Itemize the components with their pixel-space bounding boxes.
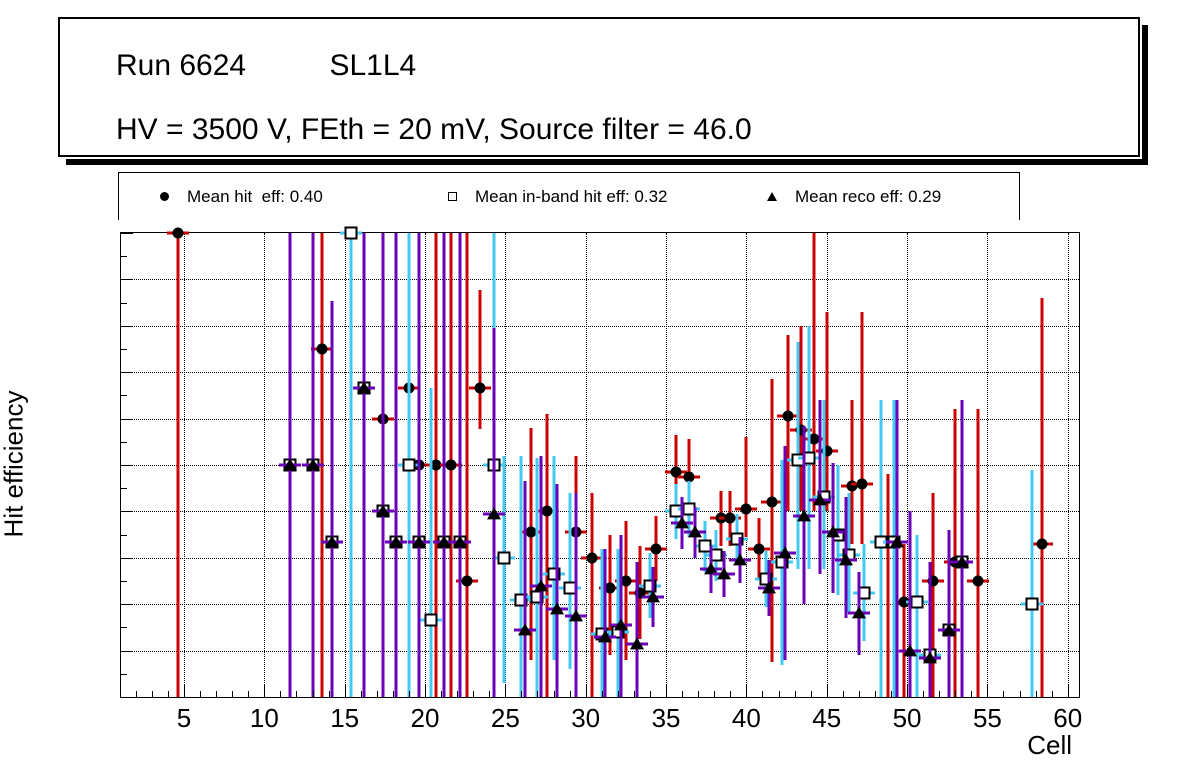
y-tick [120,233,133,234]
error-bar-vertical [575,493,578,697]
x-tick [907,685,908,698]
data-point-triangle [534,579,548,591]
data-point-triangle [813,493,827,505]
y-tick [120,511,133,512]
data-point-circle [783,411,794,422]
x-tick-minor [698,691,699,698]
y-tick-minor [120,349,127,350]
error-bar-vertical [1031,470,1034,697]
x-tick-minor [409,691,410,698]
y-tick [120,279,133,280]
error-bar-vertical [502,456,505,683]
x-tick-label: 35 [652,703,681,734]
title-settings-line: HV = 3500 V, FEth = 20 mV, Source filter… [116,113,752,147]
y-tick [120,558,133,559]
x-tick-minor [891,691,892,698]
filled-triangle-glyph [767,192,777,201]
x-tick [666,685,667,698]
x-tick-minor [618,691,619,698]
y-tick-minor [120,488,127,489]
error-bar-vertical [954,409,957,697]
error-bar-vertical [886,474,889,697]
error-bar-vertical [808,326,811,570]
x-tick-minor [521,691,522,698]
x-tick-minor [843,691,844,698]
error-bar-vertical [931,493,934,697]
plot-frame: 00.10.20.30.40.50.60.70.80.9151015202530… [120,232,1080,698]
legend-box: Mean hit eff: 0.40Mean in-band hit eff: … [118,172,1020,220]
error-bar-vertical [620,535,623,697]
y-tick [120,697,133,698]
x-tick-label: 55 [973,703,1002,734]
data-point-triangle [630,637,644,649]
error-bar-vertical [812,233,815,511]
data-point-triangle [518,623,532,635]
x-tick [746,685,747,698]
x-tick-minor [200,691,201,698]
x-tick-minor [955,691,956,698]
x-tick-minor [377,691,378,698]
data-point-circle [526,527,537,538]
x-tick-label: 45 [812,703,841,734]
data-point-triangle [903,644,917,656]
x-tick-label: 15 [330,703,359,734]
data-point-circle [651,543,662,554]
y-tick-minor [120,256,127,257]
x-tick [425,685,426,698]
x-tick [505,685,506,698]
y-tick-minor [120,535,127,536]
data-point-circle [445,460,456,471]
data-point-triangle [646,591,660,603]
filled-circle-glyph [160,192,169,201]
error-bar-vertical [822,400,825,569]
x-tick-label: 50 [893,703,922,734]
error-bar-vertical [745,437,748,537]
x-tick [264,685,265,698]
error-bar-vertical [555,484,558,697]
data-point-circle [725,513,736,524]
x-tick-label: 20 [411,703,440,734]
open-square-glyph [448,192,457,201]
y-tick [120,604,133,605]
x-tick-minor [554,691,555,698]
error-bar-vertical [880,400,883,697]
data-point-circle [741,504,752,515]
error-bar-vertical [417,233,420,697]
x-tick-minor [634,691,635,698]
error-bar-vertical [362,233,365,697]
title-box-shadow-right [1142,25,1148,165]
legend-label: Mean hit eff: 0.40 [187,187,323,207]
legend-entry-0: Mean hit eff: 0.40 [141,173,323,220]
data-layer [121,233,1079,697]
error-bar-vertical [928,562,931,697]
data-point-square [402,459,415,472]
x-tick [1068,685,1069,698]
error-bar-vertical [176,233,179,697]
error-bar-vertical [395,233,398,697]
x-tick-minor [232,691,233,698]
x-tick [827,685,828,698]
title-box-shadow-bottom [66,159,1148,165]
data-point-triangle [614,618,628,630]
data-point-triangle [942,623,956,635]
error-bar-vertical [539,456,542,697]
error-bar-vertical [382,233,385,697]
data-point-triangle [283,458,297,470]
x-tick-label: 30 [571,703,600,734]
x-tick-minor [939,691,940,698]
x-tick-minor [795,691,796,698]
x-tick-minor [313,691,314,698]
data-point-triangle [569,609,583,621]
data-point-triangle [357,381,371,393]
data-point-triangle [688,526,702,538]
x-axis-title: Cell [1027,730,1072,761]
x-tick-minor [329,691,330,698]
filled-circle-icon [141,192,187,201]
data-point-square [497,551,510,564]
x-tick-minor [1020,691,1021,698]
data-point-circle [542,506,553,517]
data-point-triangle [762,581,776,593]
error-bar-vertical [459,233,462,697]
title-box: Run 6624 SL1L4 HV = 3500 V, FEth = 20 mV… [58,17,1140,157]
x-tick-minor [216,691,217,698]
data-point-triangle [839,554,853,566]
x-tick-minor [457,691,458,698]
error-bar-vertical [478,290,481,429]
x-tick-minor [1052,691,1053,698]
y-tick-minor [120,581,127,582]
legend-entry-2: Mean reco eff: 0.29 [749,173,941,220]
data-point-triangle [955,556,969,568]
x-tick-minor [537,691,538,698]
legend-label: Mean in-band hit eff: 0.32 [475,187,668,207]
data-point-triangle [412,536,426,548]
y-tick-minor [120,442,127,443]
y-tick [120,419,133,420]
x-tick-minor [248,691,249,698]
x-tick-minor [682,691,683,698]
data-point-triangle [306,458,320,470]
data-point-triangle [598,630,612,642]
data-point-triangle [389,536,403,548]
y-tick-minor [120,627,127,628]
x-tick-minor [779,691,780,698]
data-point-triangle [717,567,731,579]
x-tick-minor [361,691,362,698]
x-tick-minor [971,691,972,698]
y-axis-title: Hit efficiency [0,391,30,538]
x-tick-label: 40 [732,703,761,734]
y-tick-minor [120,303,127,304]
x-tick [345,685,346,698]
data-point-triangle [453,536,467,548]
error-bar-vertical [523,481,526,697]
y-tick [120,372,133,373]
data-point-triangle [890,535,904,547]
x-tick-minor [393,691,394,698]
data-point-triangle [733,554,747,566]
data-point-triangle [797,509,811,521]
error-bar-vertical [960,400,963,697]
error-bar-vertical [771,379,774,662]
data-point-triangle [923,651,937,663]
error-bar-vertical [1041,298,1044,697]
x-tick-minor [762,691,763,698]
y-tick [120,326,133,327]
x-tick [586,685,587,698]
y-tick [120,651,133,652]
error-bar-vertical [443,233,446,697]
x-tick-label: 25 [491,703,520,734]
data-point-circle [461,576,472,587]
data-point-square [910,595,923,608]
x-tick-minor [714,691,715,698]
x-tick-label: 10 [250,703,279,734]
data-point-triangle [325,536,339,548]
y-tick-minor [120,395,127,396]
x-tick-label: 5 [177,703,191,734]
data-point-circle [172,228,183,239]
filled-triangle-icon [749,192,795,201]
data-point-triangle [487,507,501,519]
error-bar-vertical [915,535,918,697]
data-point-triangle [376,505,390,517]
x-tick-minor [489,691,490,698]
error-bar-vertical [947,530,950,697]
error-bar-vertical [909,511,912,697]
data-point-circle [1037,538,1048,549]
x-tick-minor [473,691,474,698]
error-bar-vertical [350,233,353,697]
data-point-triangle [826,526,840,538]
x-tick-minor [811,691,812,698]
data-point-circle [474,382,485,393]
x-tick-minor [280,691,281,698]
x-tick [987,685,988,698]
error-bar-vertical [330,301,333,697]
data-point-circle [857,478,868,489]
y-tick [120,465,133,466]
data-point-circle [317,344,328,355]
error-bar-vertical [787,335,790,511]
error-bar-vertical [465,233,468,697]
data-point-circle [587,552,598,563]
legend-entry-1: Mean in-band hit eff: 0.32 [429,173,668,220]
error-bar-vertical [819,400,822,574]
error-bar-vertical [861,312,864,544]
data-point-square [425,613,438,626]
error-bar-vertical [591,493,594,697]
data-point-triangle [550,602,564,614]
title-run-line: Run 6624 SL1L4 [116,49,416,83]
x-tick-minor [168,691,169,698]
error-bar-vertical [825,312,828,512]
x-tick-minor [730,691,731,698]
error-bar-vertical [603,549,606,697]
error-bar-vertical [546,414,549,697]
x-tick-minor [136,691,137,698]
data-point-circle [754,543,765,554]
x-tick-minor [570,691,571,698]
error-bar-vertical [851,400,854,544]
x-tick-minor [923,691,924,698]
data-point-square [345,227,358,240]
error-bar-vertical [624,521,627,660]
x-tick-minor [152,691,153,698]
x-tick-minor [296,691,297,698]
y-tick-minor [120,674,127,675]
error-bar-vertical [636,562,639,697]
x-tick-minor [441,691,442,698]
data-point-circle [972,576,983,587]
x-tick-minor [1036,691,1037,698]
data-point-circle [767,497,778,508]
x-tick-minor [859,691,860,698]
error-bar-vertical [976,409,979,697]
error-bar-vertical [896,400,899,697]
legend-label: Mean reco eff: 0.29 [795,187,941,207]
data-point-triangle [852,607,866,619]
open-square-icon [429,192,475,201]
data-point-square [1026,598,1039,611]
x-tick-minor [650,691,651,698]
x-tick-minor [602,691,603,698]
data-point-triangle [778,547,792,559]
x-tick-minor [1003,691,1004,698]
x-tick-minor [875,691,876,698]
x-tick [184,685,185,698]
error-bar-vertical [902,544,905,697]
